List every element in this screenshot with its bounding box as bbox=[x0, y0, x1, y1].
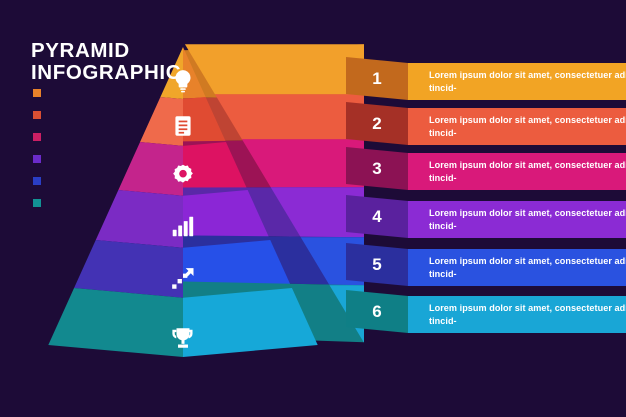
row-text-panel[interactable]: Lorem ipsum dolor sit amet, consectetuer… bbox=[408, 153, 626, 190]
title-line-1: PYRAMID bbox=[31, 40, 221, 62]
growth-arrow-icon bbox=[170, 266, 196, 292]
content-row[interactable]: 3Lorem ipsum dolor sit amet, consectetue… bbox=[346, 147, 626, 190]
row-number-tab[interactable]: 6 bbox=[346, 290, 408, 333]
row-description: Lorem ipsum dolor sit amet, consectetuer… bbox=[429, 302, 626, 326]
row-description: Lorem ipsum dolor sit amet, consectetuer… bbox=[429, 207, 626, 231]
legend-swatch-5[interactable] bbox=[33, 177, 41, 185]
content-row[interactable]: 6Lorem ipsum dolor sit amet, consectetue… bbox=[346, 290, 626, 333]
trophy-icon bbox=[170, 325, 196, 351]
gear-icon bbox=[170, 163, 196, 189]
row-description: Lorem ipsum dolor sit amet, consectetuer… bbox=[429, 255, 626, 279]
row-description: Lorem ipsum dolor sit amet, consectetuer… bbox=[429, 69, 626, 93]
document-icon bbox=[170, 113, 196, 139]
row-number-tab[interactable]: 4 bbox=[346, 195, 408, 238]
row-text-panel[interactable]: Lorem ipsum dolor sit amet, consectetuer… bbox=[408, 108, 626, 145]
row-text-panel[interactable]: Lorem ipsum dolor sit amet, consectetuer… bbox=[408, 63, 626, 100]
legend-swatch-4[interactable] bbox=[33, 155, 41, 163]
content-row[interactable]: 4Lorem ipsum dolor sit amet, consectetue… bbox=[346, 195, 626, 238]
row-text-panel[interactable]: Lorem ipsum dolor sit amet, consectetuer… bbox=[408, 296, 626, 333]
bar-chart-icon bbox=[170, 213, 196, 239]
row-number-tab[interactable]: 3 bbox=[346, 147, 408, 190]
row-number-tab[interactable]: 2 bbox=[346, 102, 408, 145]
content-row[interactable]: 5Lorem ipsum dolor sit amet, consectetue… bbox=[346, 243, 626, 286]
legend-swatch-3[interactable] bbox=[33, 133, 41, 141]
content-row[interactable]: 2Lorem ipsum dolor sit amet, consectetue… bbox=[346, 102, 626, 145]
legend-swatch-6[interactable] bbox=[33, 199, 41, 207]
legend bbox=[33, 89, 41, 221]
row-description: Lorem ipsum dolor sit amet, consectetuer… bbox=[429, 114, 626, 138]
row-number-tab[interactable]: 1 bbox=[346, 57, 408, 100]
content-row[interactable]: 1Lorem ipsum dolor sit amet, consectetue… bbox=[346, 57, 626, 100]
lightbulb-icon bbox=[170, 68, 196, 94]
pyramid-tier-6[interactable] bbox=[48, 282, 364, 357]
infographic-canvas: PYRAMID INFOGRAPHIC 1Lorem ipsum dolor s… bbox=[0, 0, 626, 417]
legend-swatch-2[interactable] bbox=[33, 111, 41, 119]
row-text-panel[interactable]: Lorem ipsum dolor sit amet, consectetuer… bbox=[408, 201, 626, 238]
legend-swatch-1[interactable] bbox=[33, 89, 41, 97]
row-number-tab[interactable]: 5 bbox=[346, 243, 408, 286]
row-text-panel[interactable]: Lorem ipsum dolor sit amet, consectetuer… bbox=[408, 249, 626, 286]
row-description: Lorem ipsum dolor sit amet, consectetuer… bbox=[429, 159, 626, 183]
